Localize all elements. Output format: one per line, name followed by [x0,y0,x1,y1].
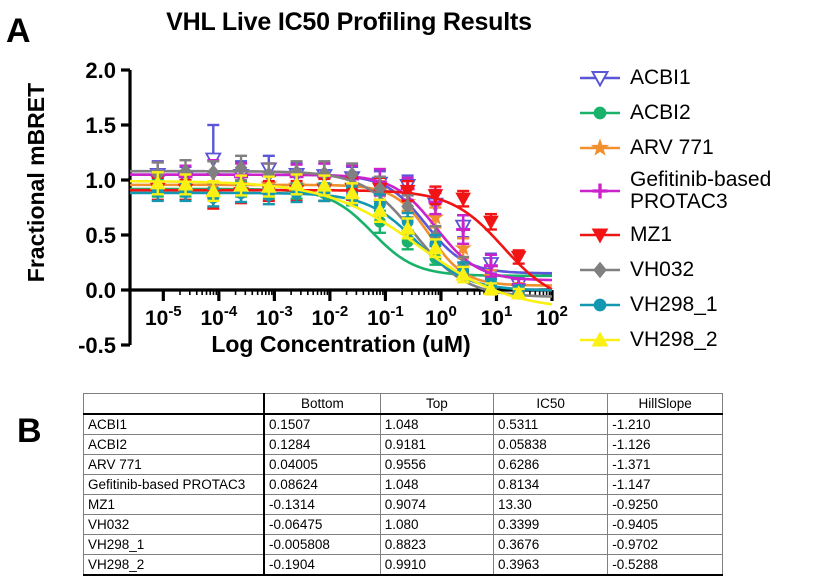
table-row: MZ1-0.13140.907413.30-0.9250 [84,495,723,515]
legend-item-mz1[interactable]: MZ1 [578,217,815,252]
cell-ic50: 0.3963 [494,555,608,576]
legend-item-label: VH298_2 [630,329,718,351]
svg-text:0.0: 0.0 [85,278,116,303]
dose-response-chart: 2.01.51.00.50.0-0.510-510-410-310-210-11… [0,0,580,375]
cell-ic50: 0.3676 [494,535,608,555]
series-vh298-1 [130,181,552,295]
legend-item-label: VH298_1 [630,294,718,316]
table-corner-cell [84,394,265,415]
cell-hillslope: -0.9405 [608,515,723,535]
svg-text:101: 101 [481,303,513,330]
row-compound-name: ACBI1 [84,414,265,435]
svg-text:102: 102 [536,303,568,330]
svg-text:0.5: 0.5 [85,223,116,248]
cell-ic50: 0.5311 [494,414,608,435]
table-col-header: Bottom [264,394,380,415]
triangle-down-open-icon [578,67,622,89]
table-row: VH298_1-0.0058080.88230.3676-0.9702 [84,535,723,555]
row-compound-name: VH298_1 [84,535,265,555]
svg-text:2.0: 2.0 [85,58,116,83]
table-row: Gefitinib-based PROTAC30.086241.0480.813… [84,475,723,495]
svg-text:10-3: 10-3 [256,303,293,330]
cell-hillslope: -0.5288 [608,555,723,576]
cell-ic50: 0.8134 [494,475,608,495]
row-compound-name: VH298_2 [84,555,265,576]
cell-top: 0.9910 [380,555,493,576]
svg-text:10-1: 10-1 [367,303,404,330]
table-row: ACBI20.12840.91810.05838-1.126 [84,435,723,455]
cell-top: 0.9074 [380,495,493,515]
table-row: ACBI10.15071.0480.5311-1.210 [84,414,723,435]
table-row: ARV 7710.040050.95560.6286-1.371 [84,455,723,475]
table-row: VH032-0.064751.0800.3399-0.9405 [84,515,723,535]
cell-top: 1.048 [380,414,493,435]
svg-text:Fractional mBRET: Fractional mBRET [23,83,49,282]
cell-ic50: 0.6286 [494,455,608,475]
cell-bottom: 0.04005 [264,455,380,475]
legend-item-label: VH032 [630,259,694,281]
svg-text:Log Concentration (uM): Log Concentration (uM) [211,331,470,357]
legend-item-label: ARV 771 [630,137,714,159]
row-compound-name: ACBI2 [84,435,265,455]
legend-item-vh298-1[interactable]: VH298_1 [578,287,815,322]
cell-top: 0.8823 [380,535,493,555]
row-compound-name: Gefitinib-based PROTAC3 [84,475,265,495]
cell-bottom: 0.1284 [264,435,380,455]
fit-parameter-table: BottomTopIC50HillSlope ACBI10.15071.0480… [83,393,723,576]
cell-hillslope: -1.371 [608,455,723,475]
row-compound-name: VH032 [84,515,265,535]
cell-hillslope: -1.147 [608,475,723,495]
cell-top: 0.9181 [380,435,493,455]
cell-ic50: 0.3399 [494,515,608,535]
star-icon [578,137,622,159]
legend-item-acbi2[interactable]: ACBI2 [578,95,815,130]
table-col-header: HillSlope [608,394,723,415]
table-row: VH298_2-0.19040.99100.3963-0.5288 [84,555,723,576]
table-col-header: IC50 [494,394,608,415]
cell-top: 0.9556 [380,455,493,475]
svg-text:10-5: 10-5 [145,303,182,330]
legend-item-label: ACBI1 [630,67,691,89]
cell-ic50: 13.30 [494,495,608,515]
svg-text:1.5: 1.5 [85,113,116,138]
table-body: ACBI10.15071.0480.5311-1.210ACBI20.12840… [84,414,723,575]
legend-item-vh032[interactable]: VH032 [578,252,815,287]
legend-item-acbi1[interactable]: ACBI1 [578,60,815,95]
triangle-down-icon [578,224,622,246]
cell-bottom: 0.08624 [264,475,380,495]
row-compound-name: ARV 771 [84,455,265,475]
chart-legend: ACBI1ACBI2ARV 771Gefitinib-based PROTAC3… [578,60,815,357]
svg-text:100: 100 [425,303,457,330]
cell-bottom: -0.1904 [264,555,380,576]
svg-text:10-4: 10-4 [200,303,237,330]
panel-b-label: B [17,414,42,448]
legend-item-label: MZ1 [630,224,672,246]
legend-item-label: ACBI2 [630,102,691,124]
legend-item-arv-771[interactable]: ARV 771 [578,130,815,165]
legend-item-gefitinib-based-protac3[interactable]: Gefitinib-based PROTAC3 [578,165,815,217]
svg-text:1.0: 1.0 [85,168,116,193]
cell-top: 1.080 [380,515,493,535]
cell-hillslope: -1.210 [608,414,723,435]
table-header-row: BottomTopIC50HillSlope [84,394,723,415]
circle-icon [578,102,622,124]
cell-bottom: 0.1507 [264,414,380,435]
plot-svg: 2.01.51.00.50.0-0.510-510-410-310-210-11… [0,0,580,375]
circle-icon [578,294,622,316]
cell-hillslope: -0.9250 [608,495,723,515]
legend-item-vh298-2[interactable]: VH298_2 [578,322,815,357]
triangle-up-icon [578,329,622,351]
table-head: BottomTopIC50HillSlope [84,394,723,415]
series-gefitinib-based-protac3 [130,160,552,291]
svg-text:-0.5: -0.5 [78,333,116,358]
cell-bottom: -0.06475 [264,515,380,535]
cell-ic50: 0.05838 [494,435,608,455]
cell-hillslope: -1.126 [608,435,723,455]
cell-bottom: -0.1314 [264,495,380,515]
table-col-header: Top [380,394,493,415]
diamond-icon [578,259,622,281]
legend-item-label: Gefitinib-based PROTAC3 [630,169,771,213]
cell-hillslope: -0.9702 [608,535,723,555]
svg-text:10-2: 10-2 [312,303,349,330]
cell-top: 1.048 [380,475,493,495]
cell-bottom: -0.005808 [264,535,380,555]
plus-icon [578,180,622,202]
row-compound-name: MZ1 [84,495,265,515]
